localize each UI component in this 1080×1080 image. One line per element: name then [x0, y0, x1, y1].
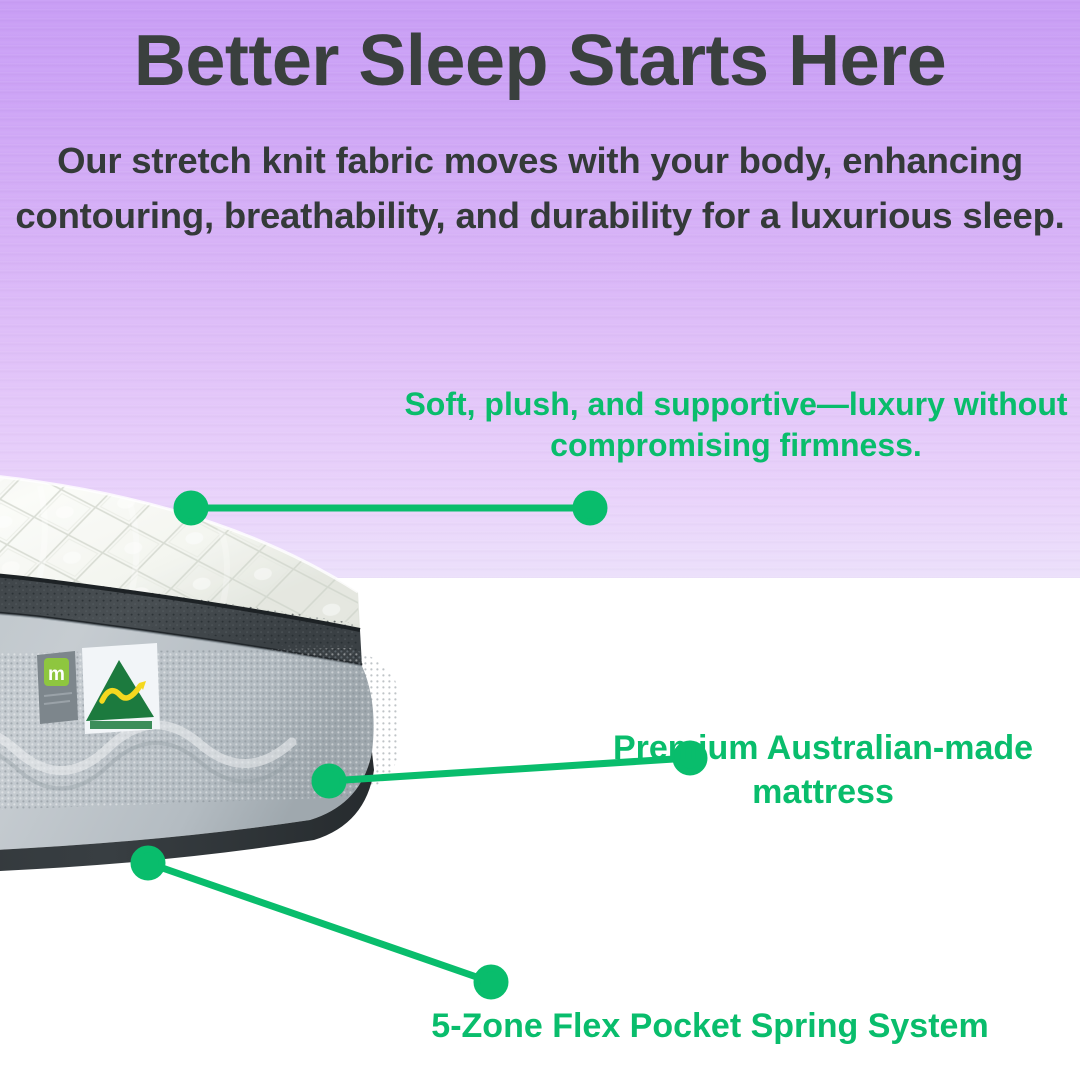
callout-label-springs: 5-Zone Flex Pocket Spring System: [340, 1005, 1080, 1049]
page-subtitle: Our stretch knit fabric moves with your …: [0, 134, 1080, 244]
mattress-product-image: Ariel Bedding Luxury Australian Bedding …: [0, 452, 620, 922]
callout-dot-springs-end[interactable]: [477, 968, 505, 996]
svg-text:m: m: [48, 664, 65, 685]
mattress-side-panel: Ariel Bedding Luxury Australian Bedding …: [0, 602, 430, 872]
comfort-tag: m: [37, 651, 78, 724]
callout-dot-origin-anchor[interactable]: [315, 767, 343, 795]
page-title: Better Sleep Starts Here: [0, 23, 1080, 99]
promo-canvas: Better Sleep Starts Here Our stretch kni…: [0, 0, 1080, 1080]
callout-dot-comfort-anchor[interactable]: [177, 494, 205, 522]
callout-label-comfort: Soft, plush, and supportive—luxury witho…: [392, 384, 1080, 466]
australian-made-tag: [82, 643, 160, 734]
callout-dot-springs-anchor[interactable]: [134, 849, 162, 877]
callout-dot-comfort-end[interactable]: [576, 494, 604, 522]
callout-label-origin: Premium Australian-made mattress: [566, 727, 1080, 814]
